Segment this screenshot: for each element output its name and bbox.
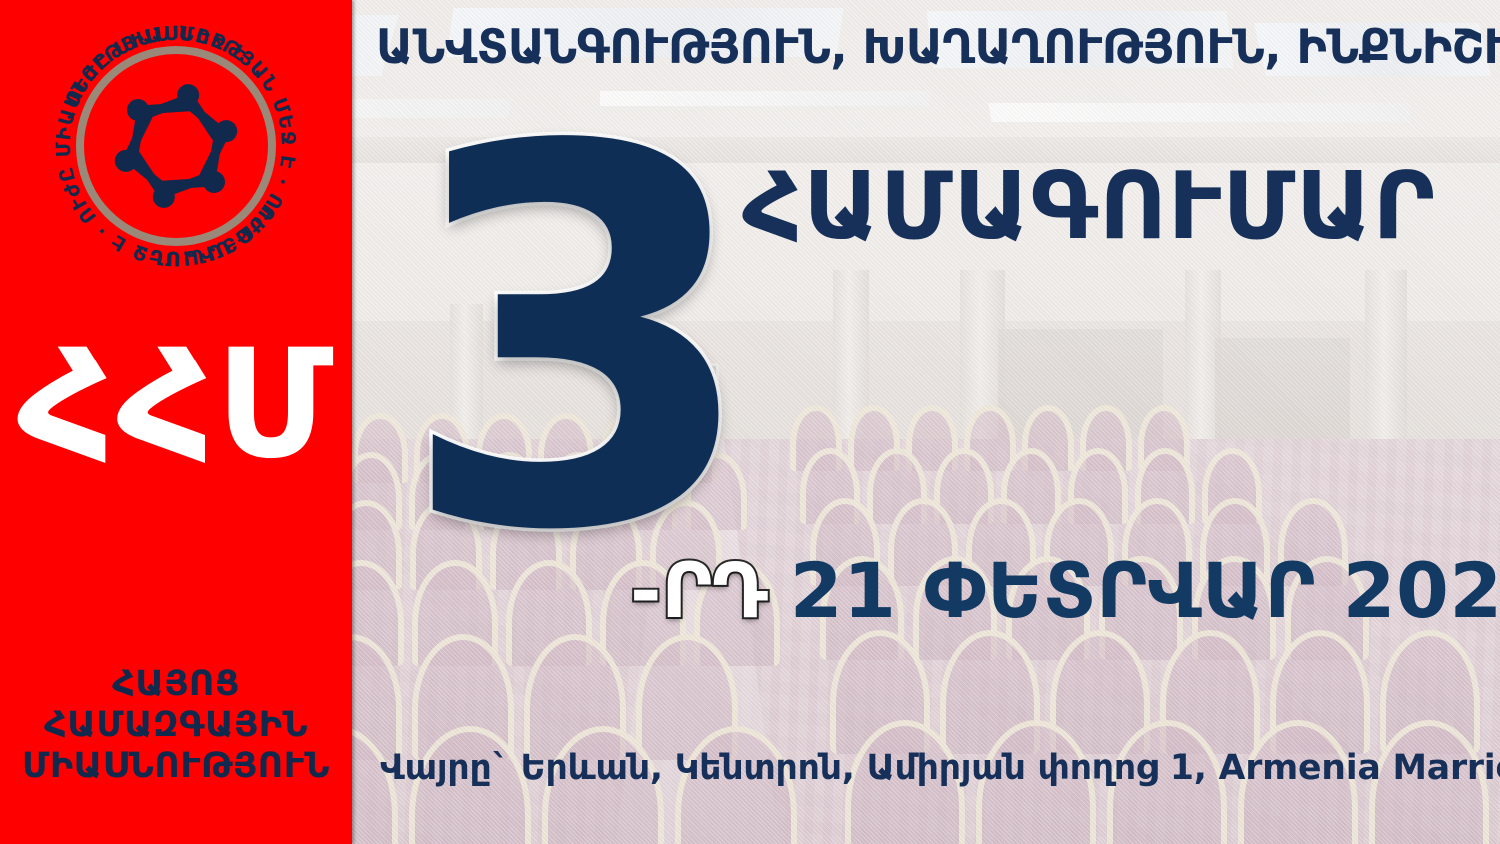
- ordinal-suffix: -ՐԴ: [630, 546, 768, 635]
- venue-line: Վայրը` Երևան, Կենտրոն, Ամիրյան փողոց 1, …: [380, 748, 1477, 788]
- congress-number: 3: [398, 118, 760, 565]
- org-name-line-1: ՀԱՅՈՑ: [6, 664, 346, 705]
- left-red-sidebar: ՈՒԺԸ ՄԻԱՍՆՈՒԹՅԱՆ ՄԵՋ Է · ՈՒԺԸ ՄԻԱՍՆ ՈՒԹՅ…: [0, 0, 352, 844]
- congress-word: ՀԱՄԱԳՈՒՄԱՐ: [742, 152, 1436, 260]
- org-name-line-2: ՀԱՄԱԶԳԱՅԻՆ: [6, 705, 346, 746]
- organization-acronym: ՀՀՄ: [0, 330, 352, 480]
- organization-logo: ՈՒԺԸ ՄԻԱՍՆՈՒԹՅԱՆ ՄԵՋ Է · ՈՒԺԸ ՄԻԱՍՆ ՈՒԹՅ…: [42, 12, 310, 280]
- organization-full-name: ՀԱՅՈՑ ՀԱՄԱԶԳԱՅԻՆ ՄԻԱՍՆՈՒԹՅՈՒՆ: [0, 664, 352, 787]
- main-content: ԱՆՎՏԱՆԳՈՒԹՅՈՒՆ, ԽԱՂԱՂՈՒԹՅՈՒՆ, ԻՆՔՆԻՇԽԱՆՈ…: [352, 0, 1500, 844]
- banner-poster: ՈՒԺԸ ՄԻԱՍՆՈՒԹՅԱՆ ՄԵՋ Է · ՈՒԺԸ ՄԻԱՍՆ ՈՒԹՅ…: [0, 0, 1500, 844]
- date-line: -ՐԴ 21 ՓԵՏՐՎԱՐ 2026: [630, 546, 1500, 635]
- event-date: 21 ՓԵՏՐՎԱՐ 2026: [790, 546, 1500, 635]
- org-name-line-3: ՄԻԱՍՆՈՒԹՅՈՒՆ: [6, 746, 346, 787]
